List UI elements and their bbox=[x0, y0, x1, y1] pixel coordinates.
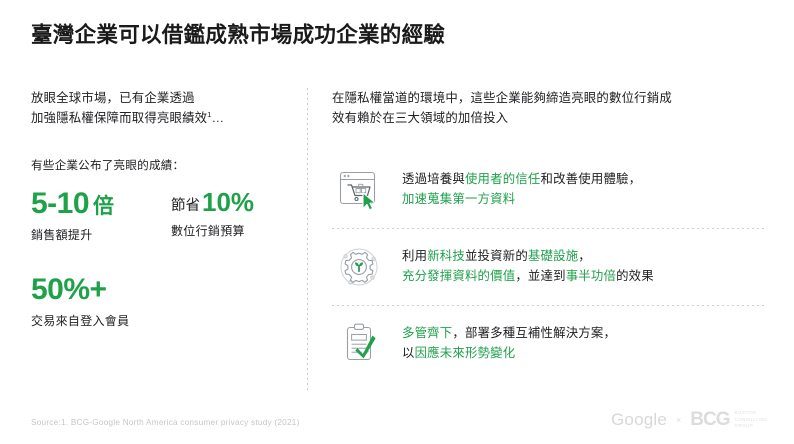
stat-unit: 倍 bbox=[93, 195, 114, 218]
bcg-logo: BCG bbox=[690, 409, 729, 431]
bullet-list: 透過培養與使用者的信任和改善使用體驗，加速蒐集第一方資料 bbox=[332, 152, 764, 382]
text-segment: 和改善使用體驗， bbox=[541, 172, 642, 186]
text-segment-highlight: 加速蒐集第一方資料 bbox=[402, 192, 515, 206]
clipboard-check-icon bbox=[332, 321, 386, 367]
bcg-sub-line-1: Boston bbox=[735, 410, 756, 415]
stat-number: 10% bbox=[202, 187, 254, 217]
list-item-text: 透過培養與使用者的信任和改善使用體驗，加速蒐集第一方資料 bbox=[402, 170, 641, 210]
stat-sales-uplift: 5-10倍 銷售額提升 bbox=[31, 189, 171, 243]
list-item: 透過培養與使用者的信任和改善使用體驗，加速蒐集第一方資料 bbox=[332, 152, 764, 228]
list-item: 多管齊下，部署多種互補性解決方案，以因應未來形勢變化 bbox=[332, 306, 764, 382]
stat-budget-savings: 節省10% 數位行銷預算 bbox=[171, 189, 254, 239]
stat-value: 5-10倍 bbox=[31, 189, 171, 219]
bcg-sub-line-2: Consulting bbox=[735, 417, 768, 422]
text-segment: 的效果 bbox=[616, 269, 654, 283]
text-segment: 以 bbox=[402, 346, 415, 360]
bcg-sub-line-3: Group bbox=[735, 423, 754, 428]
column-divider bbox=[307, 88, 308, 392]
text-segment: 並投資新的 bbox=[465, 249, 528, 263]
left-column: 放眼全球市場，已有企業透過 加強隱私權保障而取得亮眼績效1… 有些企業公布了亮眼… bbox=[31, 88, 289, 329]
stat-prefix: 節省 bbox=[171, 198, 200, 214]
page-title: 臺灣企業可以借鑑成熟市場成功企業的經驗 bbox=[31, 22, 445, 49]
text-segment-highlight: 因應未來形勢變化 bbox=[415, 346, 516, 360]
right-intro-paragraph: 在隱私權當道的環境中，這些企業能夠締造亮眼的數位行銷成 效有賴於在三大領域的加倍… bbox=[332, 88, 764, 128]
left-subheading: 有些企業公布了亮眼的成績： bbox=[31, 157, 289, 173]
slide-root: 臺灣企業可以借鑑成熟市場成功企業的經驗 放眼全球市場，已有企業透過 加強隱私權保… bbox=[0, 0, 794, 444]
right-intro-line-1: 在隱私權當道的環境中，這些企業能夠締造亮眼的數位行銷成 bbox=[332, 91, 672, 105]
text-segment: 透過培養與 bbox=[402, 172, 465, 186]
stat-value: 節省10% bbox=[171, 189, 254, 215]
text-segment-highlight: 充分發揮資料的價值 bbox=[402, 269, 515, 283]
bcg-logo-subtitle: Boston Consulting Group bbox=[735, 410, 768, 429]
stats-row-primary: 5-10倍 銷售額提升 節省10% 數位行銷預算 bbox=[31, 189, 289, 243]
right-column: 在隱私權當道的環境中，這些企業能夠締造亮眼的數位行銷成 效有賴於在三大領域的加倍… bbox=[332, 88, 764, 382]
text-segment: 利用 bbox=[402, 249, 427, 263]
left-intro-ellipsis: … bbox=[212, 111, 225, 125]
text-segment: ，部署多種互補性解決方案， bbox=[452, 326, 616, 340]
left-intro-line-2: 加強隱私權保障而取得亮眼績效 bbox=[31, 111, 207, 125]
list-item-text: 多管齊下，部署多種互補性解決方案，以因應未來形勢變化 bbox=[402, 324, 616, 364]
stat-value: 50%+ bbox=[31, 275, 289, 305]
footer-logos: Google × BCG Boston Consulting Group bbox=[611, 409, 768, 431]
right-intro-line-2: 效有賴於在三大領域的加倍投入 bbox=[332, 111, 508, 125]
left-intro-paragraph: 放眼全球市場，已有企業透過 加強隱私權保障而取得亮眼績效1… bbox=[31, 88, 289, 128]
stat-label: 銷售額提升 bbox=[31, 226, 171, 243]
google-logo: Google bbox=[611, 410, 667, 430]
logo-separator: × bbox=[676, 415, 681, 425]
gear-sprout-atom-icon bbox=[332, 244, 386, 290]
text-segment-highlight: 新科技 bbox=[427, 249, 465, 263]
text-segment-highlight: 多管齊下 bbox=[402, 326, 452, 340]
stat-number: 5-10 bbox=[31, 187, 89, 220]
stat-logged-in-transactions: 50%+ 交易來自登入會員 bbox=[31, 275, 289, 329]
stat-label: 數位行銷預算 bbox=[171, 222, 254, 239]
list-item-text: 利用新科技並投資新的基礎設施，充分發揮資料的價值，並達到事半功倍的效果 bbox=[402, 247, 654, 287]
text-segment-highlight: 使用者的信任 bbox=[465, 172, 541, 186]
stat-number: 50%+ bbox=[31, 273, 107, 306]
list-item: 利用新科技並投資新的基礎設施，充分發揮資料的價值，並達到事半功倍的效果 bbox=[332, 229, 764, 305]
text-segment: ， bbox=[578, 249, 591, 263]
text-segment-highlight: 事半功倍 bbox=[566, 269, 616, 283]
source-note: Source:1. BCG-Google North America consu… bbox=[31, 418, 300, 427]
text-segment: ，並達到 bbox=[515, 269, 565, 283]
browser-cart-cursor-icon bbox=[332, 167, 386, 213]
left-intro-line-1: 放眼全球市場，已有企業透過 bbox=[31, 91, 195, 105]
text-segment-highlight: 基礎設施 bbox=[528, 249, 578, 263]
stat-label: 交易來自登入會員 bbox=[31, 312, 289, 329]
